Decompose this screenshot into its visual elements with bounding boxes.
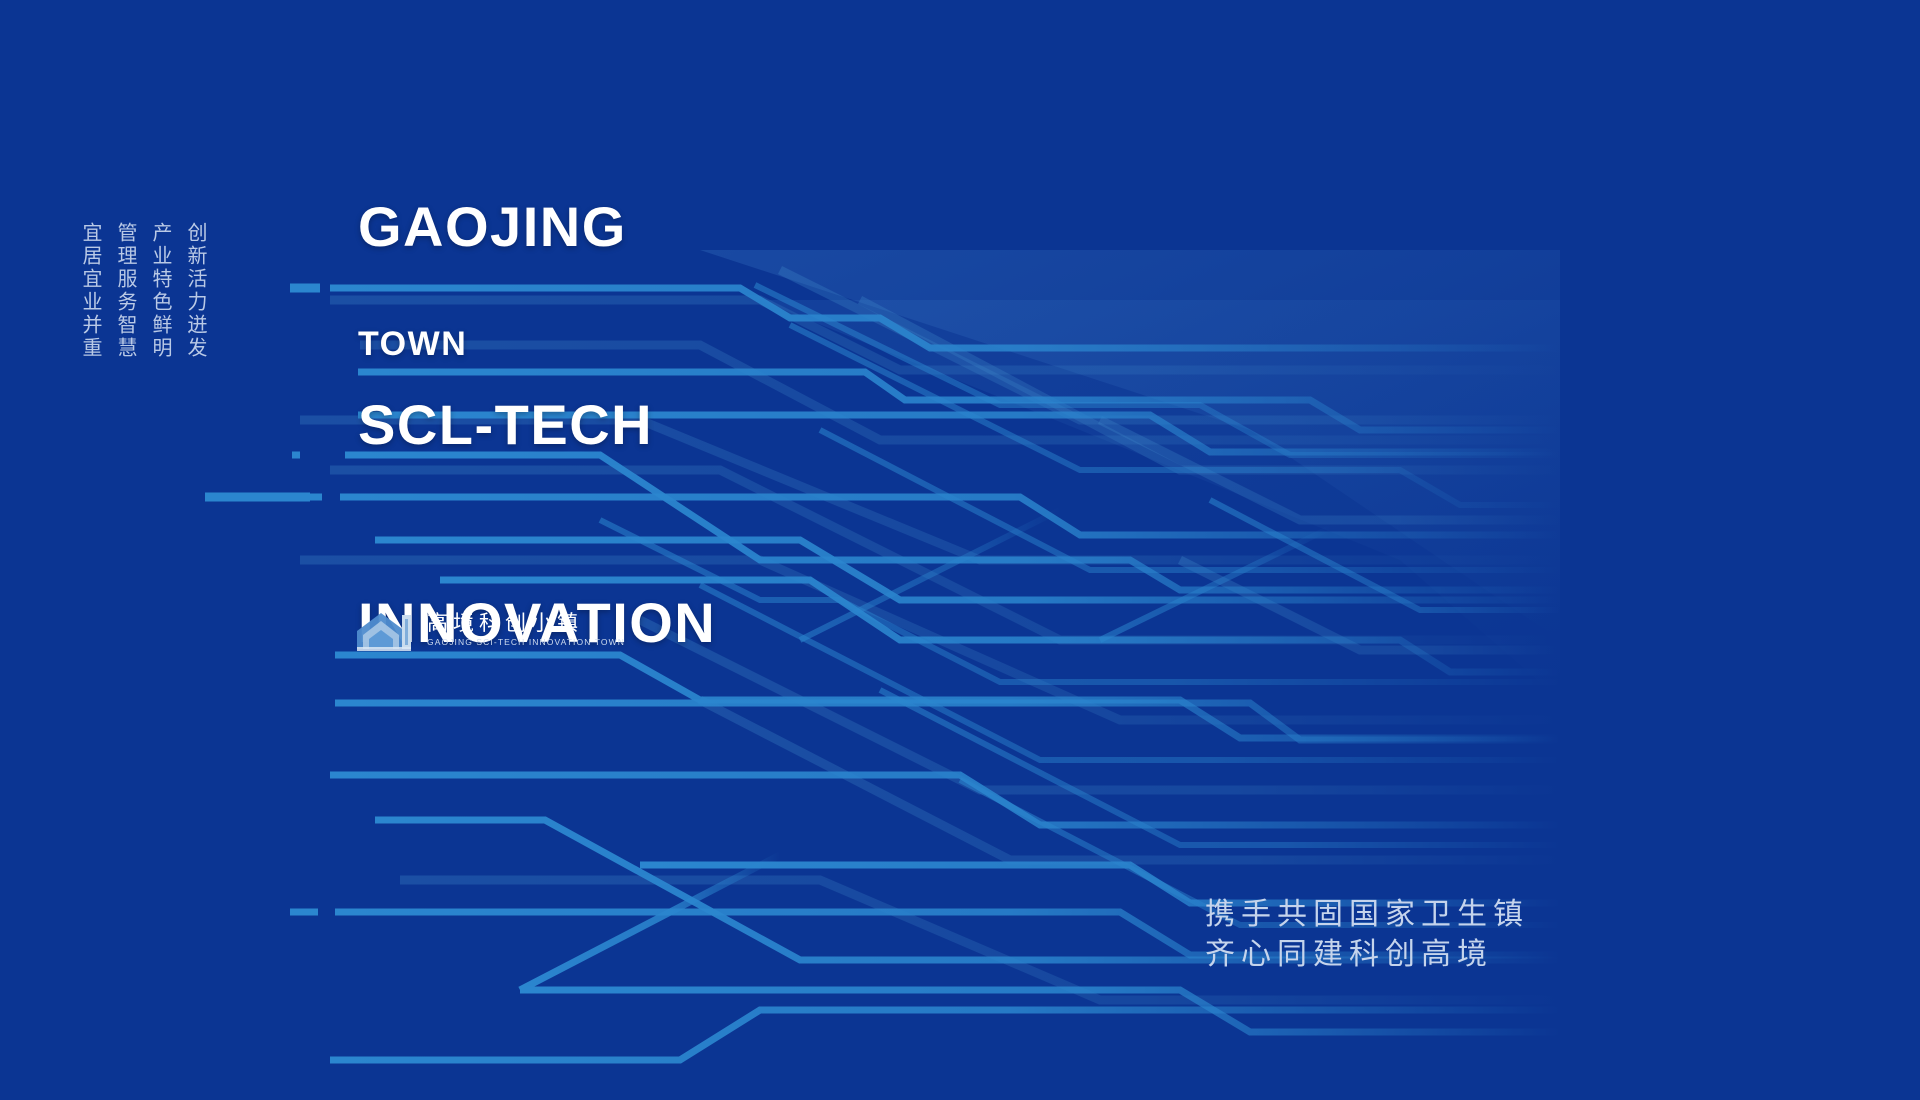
page-title: GAOJING SCL-TECH INNOVATION [358,62,716,788]
title-line-town: TOWN [358,325,467,364]
logo-name-en: GAOJING SCI-TECH INNOVATION TOWN [427,637,625,647]
logo: 高境科创小镇 GAOJING SCI-TECH INNOVATION TOWN [355,605,625,653]
vertical-slogan-column-2: 产业特色鲜明 [148,222,174,422]
bottom-slogan-line-1: 携手共固国家卫生镇 [1205,895,1529,935]
logo-name-cn: 高境科创小镇 [427,612,625,634]
title-line-2: SCL-TECH [358,392,716,458]
title-line-1: GAOJING [358,194,716,260]
bottom-slogan-line-2: 齐心同建科创高境 [1205,935,1529,975]
circuit-pattern-background [0,0,1920,1100]
vertical-slogan-column-3: 管理服务智慧 [113,222,139,422]
logo-text-block: 高境科创小镇 GAOJING SCI-TECH INNOVATION TOWN [427,612,625,647]
bottom-slogan: 携手共固国家卫生镇 齐心同建科创高境 [1205,895,1529,975]
house-building-icon [355,605,417,653]
vertical-slogan-column-1: 创新活力迸发 [183,222,209,422]
vertical-slogan: 创新活力迸发 产业特色鲜明 管理服务智慧 宜居宜业并重 [78,222,209,422]
poster-canvas: 创新活力迸发 产业特色鲜明 管理服务智慧 宜居宜业并重 GAOJING SCL-… [0,0,1920,1100]
vertical-slogan-column-4: 宜居宜业并重 [78,222,104,422]
